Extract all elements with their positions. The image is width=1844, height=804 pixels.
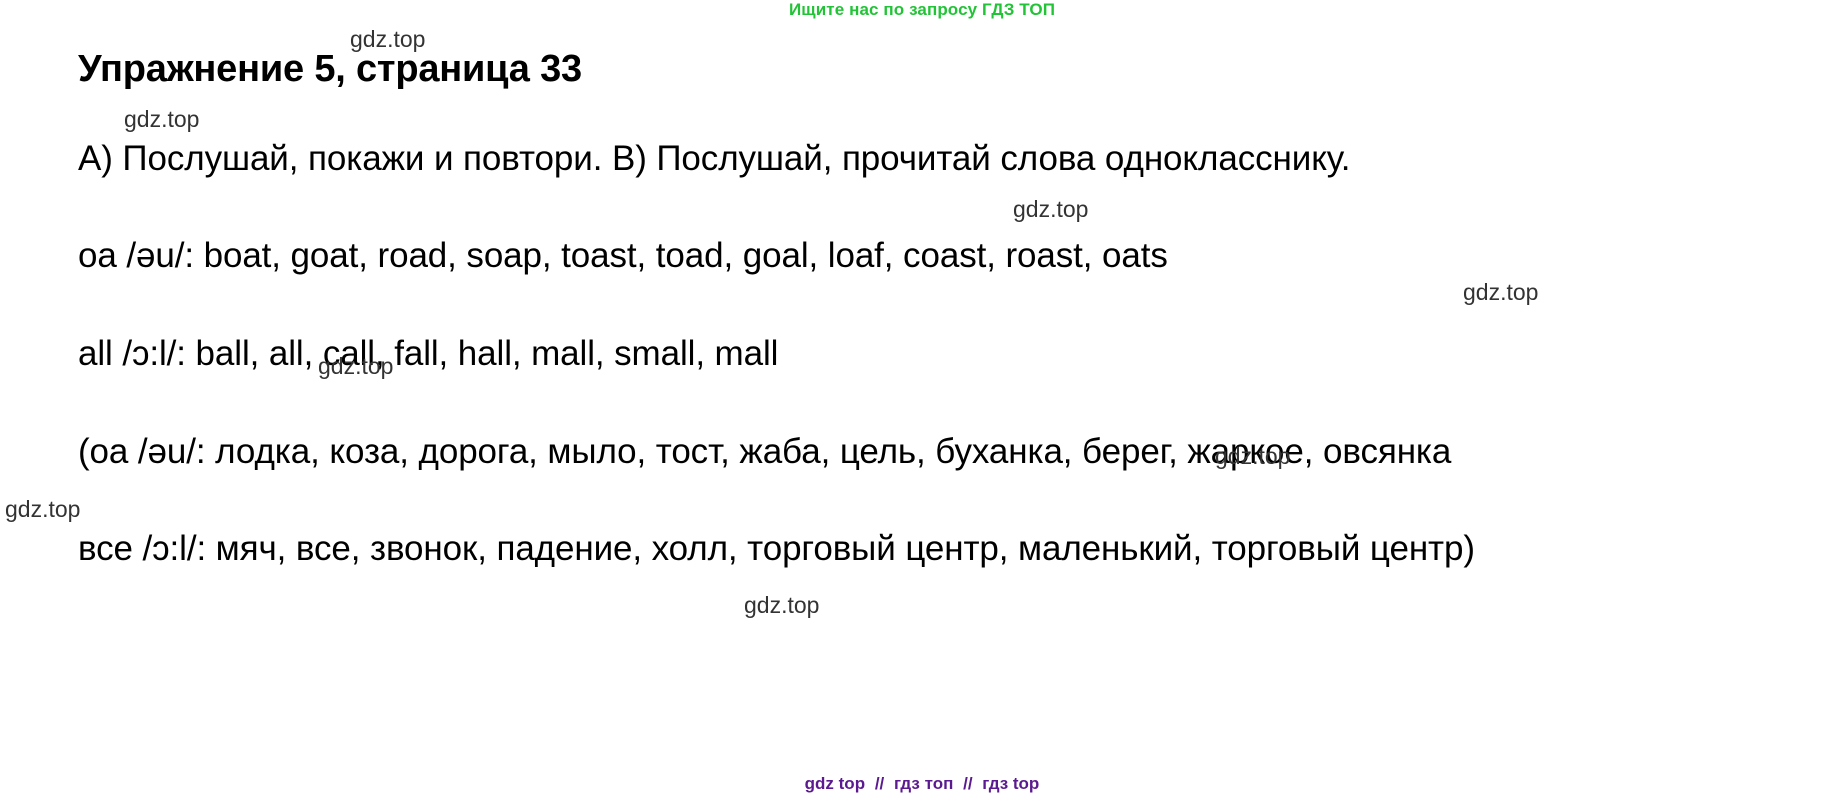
- sound-all-words-line: all /ɔ:l/: ball, all, call, fall, hall, …: [78, 329, 1838, 379]
- footer-part-1: gdz top: [805, 774, 865, 793]
- promo-banner: Ищите нас по запросу ГДЗ ТОП: [0, 0, 1844, 20]
- watermark: gdz.top: [744, 592, 819, 619]
- watermark: gdz.top: [5, 496, 80, 523]
- footer-separator-1: //: [870, 774, 889, 793]
- task-instruction-line: А) Послушай, покажи и повтори. В) Послуш…: [78, 134, 1838, 184]
- site-footer: gdz top // гдз топ // гдз top: [0, 774, 1844, 794]
- translation-oa-line: (oa /əu/: лодка, коза, дорога, мыло, тос…: [78, 427, 1828, 477]
- answer-page: Ищите нас по запросу ГДЗ ТОП Упражнение …: [0, 0, 1844, 804]
- footer-part-3: гдз top: [982, 774, 1039, 793]
- translation-all-line: все /ɔ:l/: мяч, все, звонок, падение, хо…: [78, 524, 1828, 574]
- footer-separator-2: //: [958, 774, 977, 793]
- sound-oa-words-line: oa /əu/: boat, goat, road, soap, toast, …: [78, 231, 1838, 281]
- page-title: Упражнение 5, страница 33: [78, 48, 1838, 92]
- footer-part-2: гдз топ: [894, 774, 953, 793]
- answer-content: Упражнение 5, страница 33 А) Послушай, п…: [78, 48, 1838, 574]
